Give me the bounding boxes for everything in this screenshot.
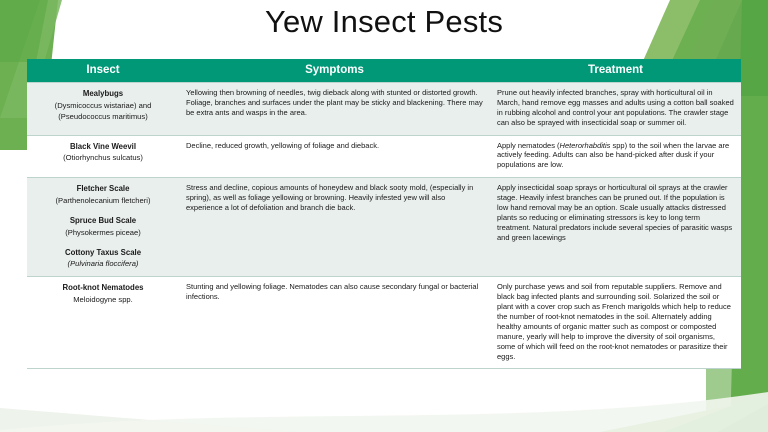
page-title: Yew Insect Pests [0,4,768,40]
insect-entry: Root-knot NematodesMeloidogyne spp. [34,282,172,305]
insect-entry: Fletcher Scale(Parthenolecanium fletcher… [34,183,172,206]
insect-common-name: Fletcher Scale [34,183,172,195]
symptoms-text: Decline, reduced growth, yellowing of fo… [186,141,483,151]
treatment-text: Apply insecticidal soap sprays or hortic… [497,183,734,242]
cell-treatment: Prune out heavily infected branches, spr… [490,83,741,136]
insect-entry: Black Vine Weevil(Otiorhynchus sulcatus) [34,141,172,164]
insect-common-name: Mealybugs [34,88,172,100]
insect-common-name: Spruce Bud Scale [34,215,172,227]
insect-entry: Mealybugs(Dysmicoccus wistariae) and(Pse… [34,88,172,122]
treatment-text: Apply nematodes (Heterorhabditis spp) to… [497,141,734,171]
column-header-treatment: Treatment [490,59,741,83]
table-row: Root-knot NematodesMeloidogyne spp.Stunt… [27,277,741,369]
table-row: Fletcher Scale(Parthenolecanium fletcher… [27,178,741,277]
cell-symptoms: Stress and decline, copious amounts of h… [179,178,490,277]
cell-insect: Fletcher Scale(Parthenolecanium fletcher… [27,178,179,277]
insect-scientific-name: Meloidogyne spp. [34,294,172,305]
cell-treatment: Apply nematodes (Heterorhabditis spp) to… [490,135,741,178]
treatment-species-name: Heterorhabditis [560,141,611,150]
cell-symptoms: Yellowing then browning of needles, twig… [179,83,490,136]
insect-scientific-name: (Parthenolecanium fletcheri) [34,195,172,206]
symptoms-text: Yellowing then browning of needles, twig… [186,88,483,118]
insect-common-name: Root-knot Nematodes [34,282,172,294]
decor-curve-bottom [0,392,768,432]
insect-scientific-name: (Pulvinaria floccifera) [34,258,172,269]
cell-treatment: Only purchase yews and soil from reputab… [490,277,741,369]
insect-entry: Cottony Taxus Scale(Pulvinaria floccifer… [34,247,172,270]
cell-insect: Black Vine Weevil(Otiorhynchus sulcatus) [27,135,179,178]
cell-insect: Root-knot NematodesMeloidogyne spp. [27,277,179,369]
treatment-text-pre: Prune out heavily infected branches, spr… [497,88,734,127]
cell-symptoms: Stunting and yellowing foliage. Nematode… [179,277,490,369]
pest-table: Insect Symptoms Treatment Mealybugs(Dysm… [27,59,741,369]
column-header-symptoms: Symptoms [179,59,490,83]
treatment-text: Prune out heavily infected branches, spr… [497,88,734,128]
table-body: Mealybugs(Dysmicoccus wistariae) and(Pse… [27,83,741,369]
table-row: Black Vine Weevil(Otiorhynchus sulcatus)… [27,135,741,178]
insect-common-name: Cottony Taxus Scale [34,247,172,259]
treatment-text-pre: Apply insecticidal soap sprays or hortic… [497,183,732,241]
insect-common-name: Black Vine Weevil [34,141,172,153]
cell-insect: Mealybugs(Dysmicoccus wistariae) and(Pse… [27,83,179,136]
insect-scientific-name: (Pseudococcus maritimus) [34,111,172,122]
symptoms-text: Stress and decline, copious amounts of h… [186,183,483,213]
insect-scientific-name: (Physokermes piceae) [34,227,172,238]
treatment-text-pre: Apply nematodes ( [497,141,560,150]
insect-scientific-name: (Otiorhynchus sulcatus) [34,152,172,163]
insect-entry: Spruce Bud Scale(Physokermes piceae) [34,215,172,238]
column-header-insect: Insect [27,59,179,83]
table-header-row: Insect Symptoms Treatment [27,59,741,83]
cell-treatment: Apply insecticidal soap sprays or hortic… [490,178,741,277]
treatment-text: Only purchase yews and soil from reputab… [497,282,734,361]
insect-scientific-name: (Dysmicoccus wistariae) and [34,100,172,111]
treatment-text-pre: Only purchase yews and soil from reputab… [497,282,731,360]
cell-symptoms: Decline, reduced growth, yellowing of fo… [179,135,490,178]
table-row: Mealybugs(Dysmicoccus wistariae) and(Pse… [27,83,741,136]
symptoms-text: Stunting and yellowing foliage. Nematode… [186,282,483,302]
